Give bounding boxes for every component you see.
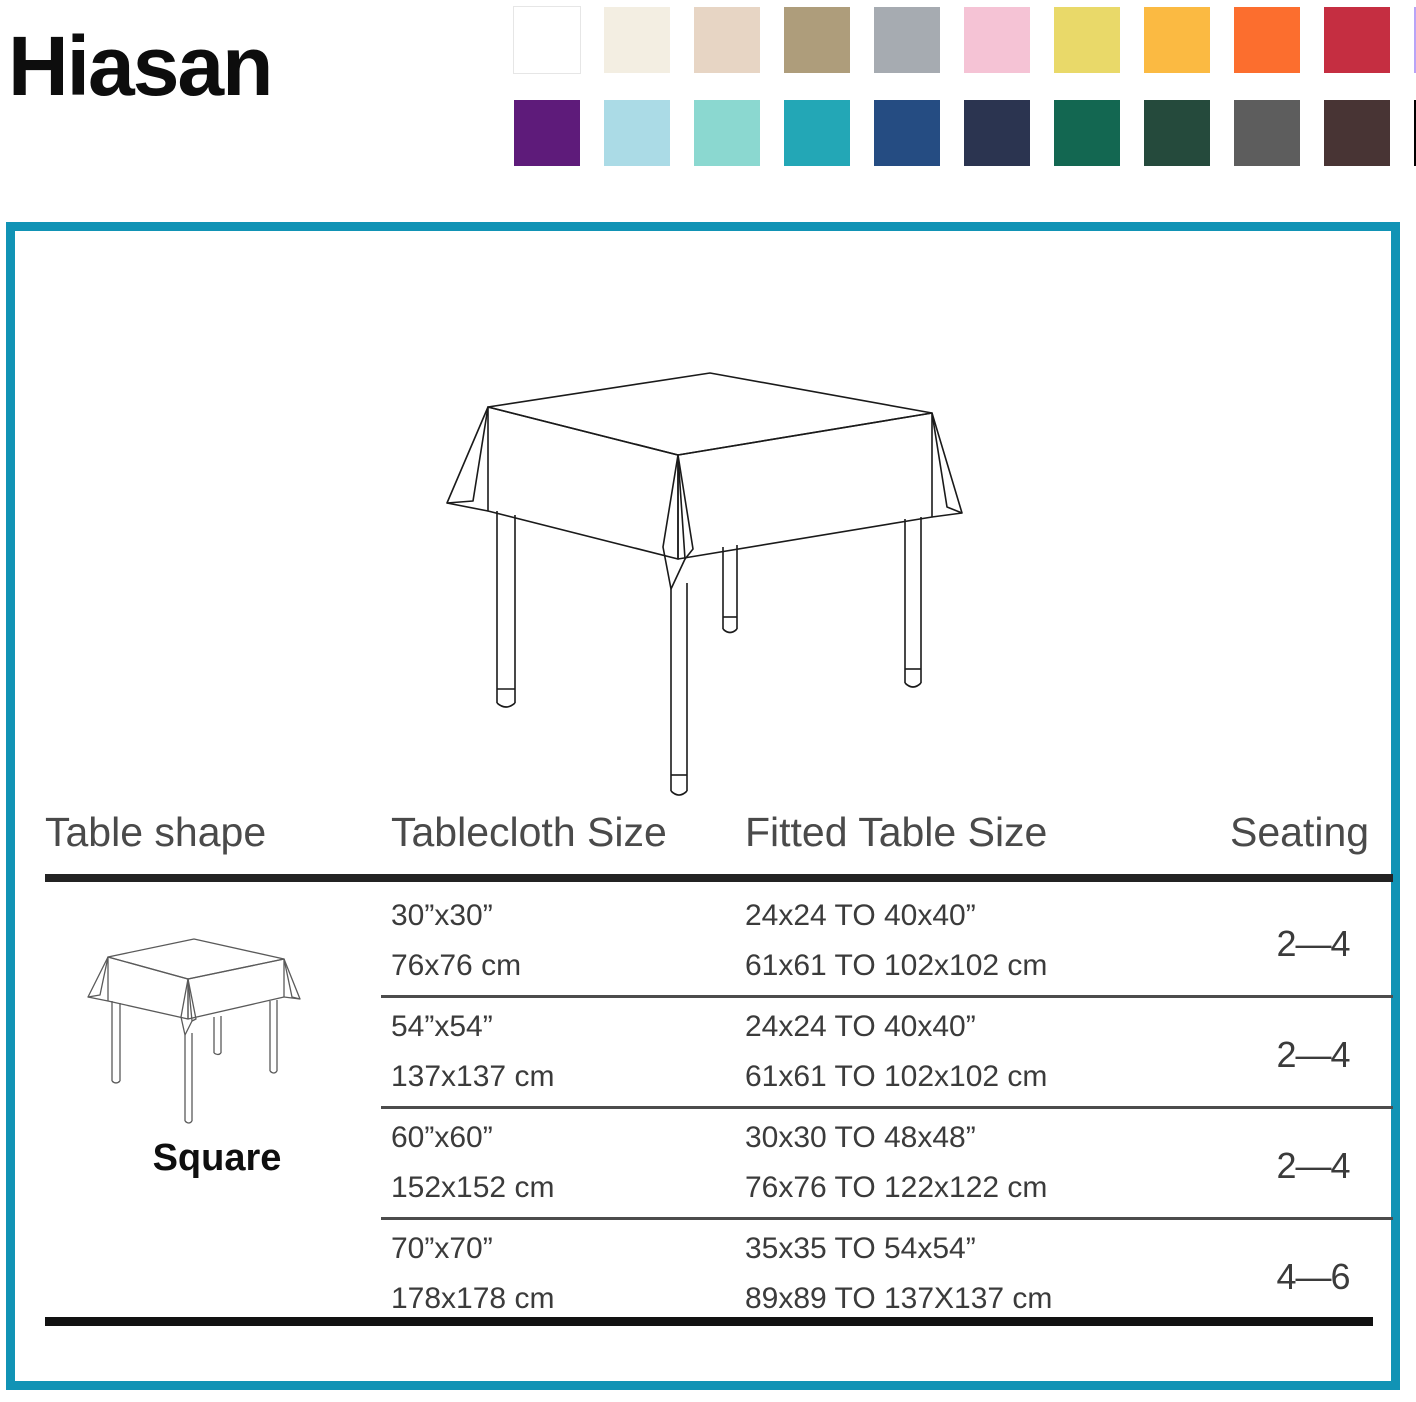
table-row: 60”x60” 152x152 cm 30x30 TO 48x48” 76x76… [33, 1109, 1391, 1220]
content-frame: Square Table shape Tablecloth Size Fitte… [6, 222, 1400, 1390]
color-swatch-powder-blue[interactable] [604, 100, 670, 166]
size-chart-table: Table shape Tablecloth Size Fitted Table… [33, 809, 1391, 871]
color-swatch-yellow[interactable] [1054, 7, 1120, 73]
cell-fitted-size-inches: 30x30 TO 48x48” [745, 1121, 976, 1155]
cell-seating: 2—4 [1233, 923, 1393, 965]
cell-tablecloth-size-inches: 30”x30” [391, 899, 493, 933]
cell-tablecloth-size-cm: 178x178 cm [391, 1282, 554, 1316]
table-row: 70”x70” 178x178 cm 35x35 TO 54x54” 89x89… [33, 1220, 1391, 1331]
color-swatch-beige[interactable] [694, 7, 760, 73]
color-swatch-white[interactable] [514, 7, 580, 73]
color-swatch-row-1 [514, 7, 1394, 73]
column-header-table-shape: Table shape [45, 809, 266, 856]
brand-logo: Hiasan [8, 6, 478, 126]
color-swatch-ivory[interactable] [604, 7, 670, 73]
column-header-fitted-table-size: Fitted Table Size [745, 809, 1047, 856]
header-divider [45, 874, 1393, 882]
cell-tablecloth-size-cm: 76x76 cm [391, 949, 521, 983]
cell-tablecloth-size-inches: 54”x54” [391, 1010, 493, 1044]
color-swatch-red[interactable] [1324, 7, 1390, 73]
color-swatch-orange[interactable] [1234, 7, 1300, 73]
cell-fitted-size-cm: 89x89 TO 137X137 cm [745, 1282, 1052, 1316]
color-swatch-navy[interactable] [964, 100, 1030, 166]
cell-tablecloth-size-inches: 60”x60” [391, 1121, 493, 1155]
table-bottom-divider [45, 1317, 1373, 1326]
header-bar: Hiasan [0, 0, 1416, 200]
color-swatch-light-pink[interactable] [964, 7, 1030, 73]
color-swatch-aqua[interactable] [694, 100, 760, 166]
color-swatch-dark-brown[interactable] [1324, 100, 1390, 166]
cell-fitted-size-inches: 24x24 TO 40x40” [745, 1010, 976, 1044]
color-swatch-emerald-green[interactable] [1054, 100, 1120, 166]
cell-fitted-size-cm: 76x76 TO 122x122 cm [745, 1171, 1047, 1205]
column-header-tablecloth-size: Tablecloth Size [391, 809, 667, 856]
cell-fitted-size-cm: 61x61 TO 102x102 cm [745, 949, 1047, 983]
square-table-illustration [435, 351, 975, 811]
cell-tablecloth-size-cm: 137x137 cm [391, 1060, 554, 1094]
color-swatch-grey[interactable] [874, 7, 940, 73]
color-swatch-denim-blue[interactable] [874, 100, 940, 166]
cell-fitted-size-inches: 35x35 TO 54x54” [745, 1232, 976, 1266]
color-swatch-grid [514, 7, 1394, 166]
color-swatch-teal[interactable] [784, 100, 850, 166]
table-row: 54”x54” 137x137 cm 24x24 TO 40x40” 61x61… [33, 998, 1391, 1109]
table-body: 30”x30” 76x76 cm 24x24 TO 40x40” 61x61 T… [33, 887, 1391, 1331]
column-header-seating: Seating [1230, 809, 1369, 856]
table-row: 30”x30” 76x76 cm 24x24 TO 40x40” 61x61 T… [33, 887, 1391, 998]
color-swatch-purple[interactable] [514, 100, 580, 166]
cell-seating: 2—4 [1233, 1034, 1393, 1076]
cell-tablecloth-size-cm: 152x152 cm [391, 1171, 554, 1205]
cell-fitted-size-cm: 61x61 TO 102x102 cm [745, 1060, 1047, 1094]
cell-seating: 2—4 [1233, 1145, 1393, 1187]
cell-fitted-size-inches: 24x24 TO 40x40” [745, 899, 976, 933]
color-swatch-row-2 [514, 100, 1394, 166]
cell-tablecloth-size-inches: 70”x70” [391, 1232, 493, 1266]
color-swatch-hunter-green[interactable] [1144, 100, 1210, 166]
color-swatch-charcoal-grey[interactable] [1234, 100, 1300, 166]
table-header-row: Table shape Tablecloth Size Fitted Table… [33, 809, 1391, 871]
color-swatch-taupe[interactable] [784, 7, 850, 73]
color-swatch-gold[interactable] [1144, 7, 1210, 73]
cell-seating: 4—6 [1233, 1256, 1393, 1298]
